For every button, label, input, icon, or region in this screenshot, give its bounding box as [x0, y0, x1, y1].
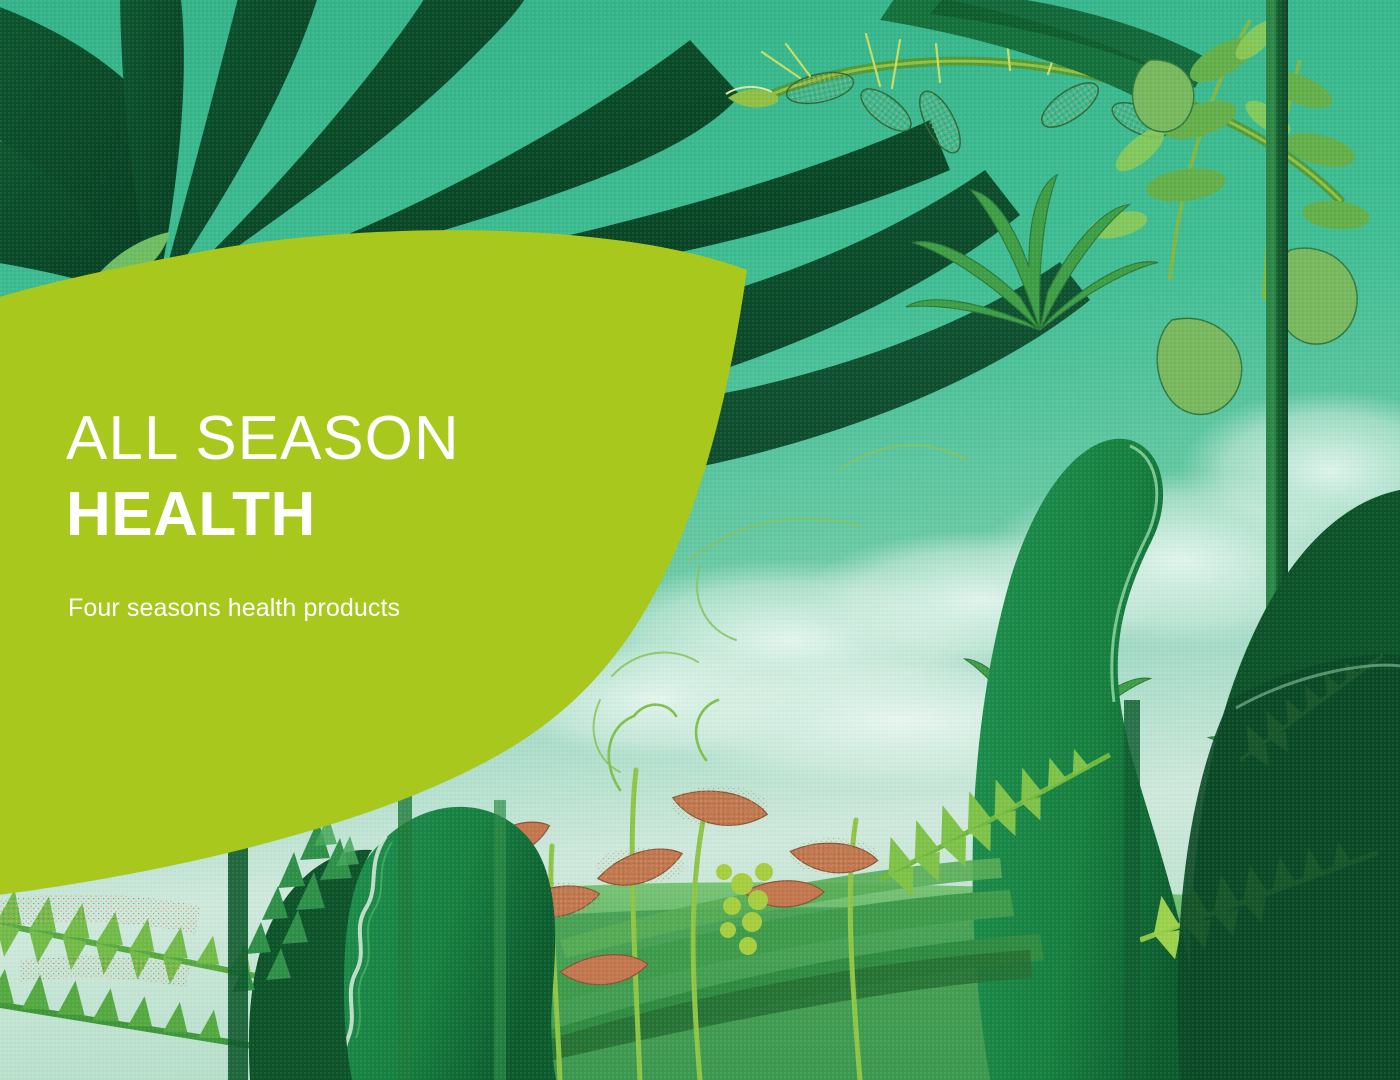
slide-canvas: ALL SEASON HEALTH Four seasons health pr…	[0, 0, 1400, 1080]
page-subtitle: Four seasons health products	[68, 594, 400, 623]
page-title: ALL SEASON HEALTH	[66, 408, 626, 546]
title-line-2: HEALTH	[66, 484, 626, 546]
title-line-1: ALL SEASON	[66, 408, 626, 470]
